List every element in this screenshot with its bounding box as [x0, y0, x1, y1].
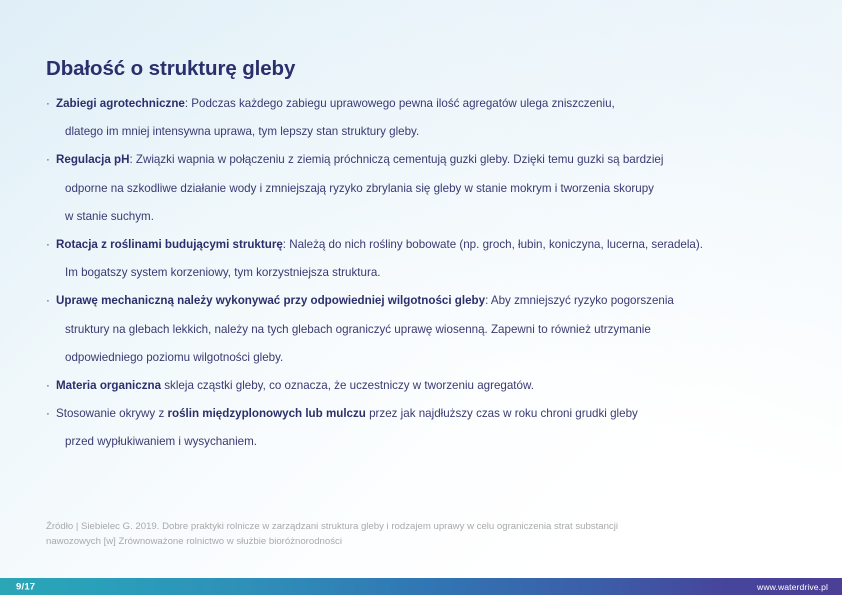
bullet-marker-icon: ·: [46, 372, 50, 400]
source-note-line-1: Źródło | Siebielec G. 2019. Dobre prakty…: [46, 520, 806, 535]
source-note: Źródło | Siebielec G. 2019. Dobre prakty…: [46, 520, 806, 549]
bullet-run: : Związki wapnia w połączeniu z ziemią p…: [129, 153, 663, 166]
bullet-line: Im bogatszy system korzeniowy, tym korzy…: [56, 259, 821, 287]
bullet-item: ·Rotacja z roślinami budującymi struktur…: [46, 231, 821, 287]
bullet-line: Materia organiczna skleja cząstki gleby,…: [56, 372, 821, 400]
page-title: Dbałość o strukturę gleby: [46, 57, 295, 81]
bullet-marker-icon: ·: [46, 400, 50, 428]
bullet-line: przed wypłukiwaniem i wysychaniem.: [56, 428, 821, 456]
bullet-text: Regulacja pH: Związki wapnia w połączeni…: [56, 146, 821, 231]
bullet-run: odporne na szkodliwe działanie wody i zm…: [65, 182, 654, 195]
bullet-line: dlatego im mniej intensywna uprawa, tym …: [56, 118, 821, 146]
bullet-run: przez jak najdłuższy czas w roku chroni …: [366, 407, 638, 420]
footer-bar: 9/17 www.waterdrive.pl: [0, 578, 842, 595]
bullet-run: przed wypłukiwaniem i wysychaniem.: [65, 435, 257, 448]
bullet-run: struktury na glebach lekkich, należy na …: [65, 323, 651, 336]
bullet-text: Zabiegi agrotechniczne: Podczas każdego …: [56, 90, 821, 146]
bullet-run: odpowiedniego poziomu wilgotności gleby.: [65, 351, 283, 364]
bullet-lead-in: Zabiegi agrotechniczne: [56, 97, 185, 110]
bullet-line: Rotacja z roślinami budującymi strukturę…: [56, 231, 821, 259]
bullet-text: Stosowanie okrywy z roślin międzyplonowy…: [56, 400, 821, 456]
bullet-marker-icon: ·: [46, 146, 50, 174]
bullet-line: w stanie suchym.: [56, 203, 821, 231]
bullet-run: : Podczas każdego zabiegu uprawowego pew…: [185, 97, 615, 110]
bullet-marker-icon: ·: [46, 287, 50, 315]
bullet-line: Stosowanie okrywy z roślin międzyplonowy…: [56, 400, 821, 428]
bullet-run: dlatego im mniej intensywna uprawa, tym …: [65, 125, 419, 138]
bullet-line: Zabiegi agrotechniczne: Podczas każdego …: [56, 90, 821, 118]
footer-url[interactable]: www.waterdrive.pl: [757, 582, 828, 592]
slide-content: Dbałość o strukturę gleby ·Zabiegi agrot…: [0, 0, 842, 595]
bullet-item: ·Stosowanie okrywy z roślin międzyplonow…: [46, 400, 821, 456]
bullet-item: ·Materia organiczna skleja cząstki gleby…: [46, 372, 821, 400]
bullet-lead-in: Uprawę mechaniczną należy wykonywać przy…: [56, 294, 485, 307]
bullet-text: Rotacja z roślinami budującymi strukturę…: [56, 231, 821, 287]
bullet-marker-icon: ·: [46, 90, 50, 118]
bullet-lead-in: Materia organiczna: [56, 379, 161, 392]
bullet-lead-in: Regulacja pH: [56, 153, 129, 166]
source-note-line-2: nawozowych [w] Zrównoważone rolnictwo w …: [46, 535, 806, 550]
bullet-text: Uprawę mechaniczną należy wykonywać przy…: [56, 287, 821, 372]
bullet-run: w stanie suchym.: [65, 210, 154, 223]
bullet-line: odpowiedniego poziomu wilgotności gleby.: [56, 344, 821, 372]
bullet-line: struktury na glebach lekkich, należy na …: [56, 316, 821, 344]
bullet-line: Uprawę mechaniczną należy wykonywać przy…: [56, 287, 821, 315]
bullet-lead-in: roślin międzyplonowych lub mulczu: [167, 407, 365, 420]
bullet-text: Materia organiczna skleja cząstki gleby,…: [56, 372, 821, 400]
page-number: 9/17: [16, 581, 35, 592]
bullet-run: Stosowanie okrywy z: [56, 407, 167, 420]
bullet-item: ·Regulacja pH: Związki wapnia w połączen…: [46, 146, 821, 231]
bullet-line: odporne na szkodliwe działanie wody i zm…: [56, 175, 821, 203]
bullet-run: skleja cząstki gleby, co oznacza, że ucz…: [161, 379, 534, 392]
bullet-run: Im bogatszy system korzeniowy, tym korzy…: [65, 266, 380, 279]
bullet-line: Regulacja pH: Związki wapnia w połączeni…: [56, 146, 821, 174]
bullet-item: ·Zabiegi agrotechniczne: Podczas każdego…: [46, 90, 821, 146]
bullet-run: : Należą do nich rośliny bobowate (np. g…: [283, 238, 703, 251]
bullet-marker-icon: ·: [46, 231, 50, 259]
bullet-item: ·Uprawę mechaniczną należy wykonywać prz…: [46, 287, 821, 372]
bullet-run: : Aby zmniejszyć ryzyko pogorszenia: [485, 294, 674, 307]
bullet-list: ·Zabiegi agrotechniczne: Podczas każdego…: [46, 90, 821, 457]
presentation-slide: Dbałość o strukturę gleby ·Zabiegi agrot…: [0, 0, 842, 595]
bullet-lead-in: Rotacja z roślinami budującymi strukturę: [56, 238, 283, 251]
